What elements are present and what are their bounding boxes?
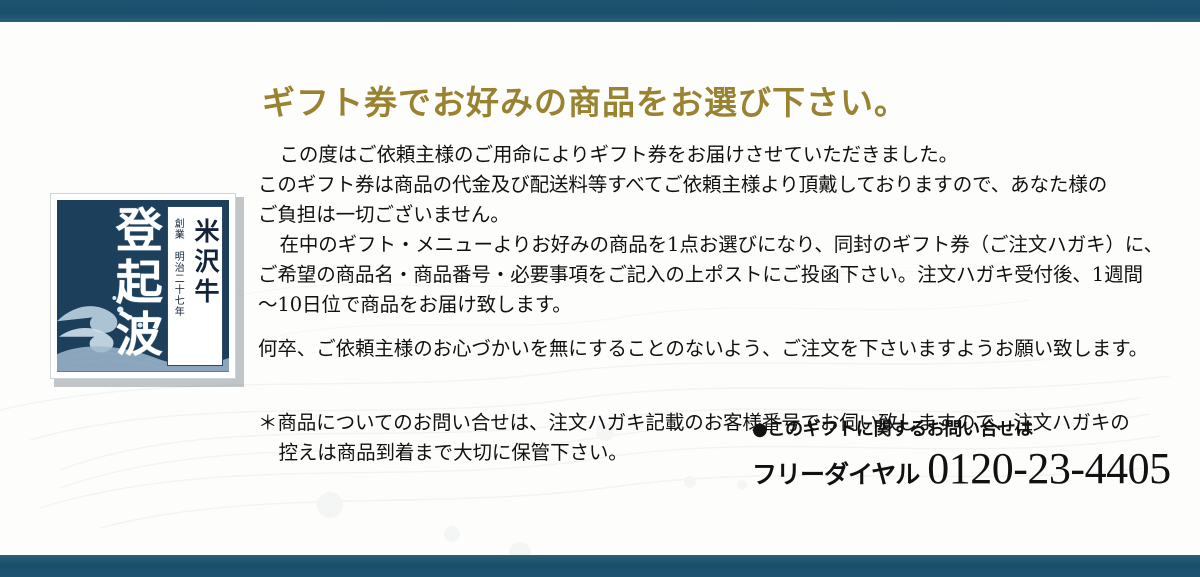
seal-frame: 登 起 波 創 業 明 治 二 十 七 年 (50, 193, 236, 379)
seal-char-1: 登 (108, 206, 170, 258)
est-char-6: 十 (168, 285, 192, 296)
phone-number[interactable]: 0120-23-4405 (927, 446, 1170, 492)
seal-char-2: 起 (108, 258, 170, 310)
seal-char-3: 波 (108, 310, 170, 362)
page-headline: ギフト券でお好みの商品をお選び下さい。 (262, 82, 1170, 124)
est-char-4: 治 (168, 263, 192, 274)
seal-main-characters: 登 起 波 (108, 206, 170, 362)
brand-char-2: 沢 (192, 247, 222, 277)
seal-established-text: 創 業 明 治 二 十 七 年 (168, 207, 192, 365)
contact-heading: ●このギフトに関するお問い合せは (752, 418, 1170, 442)
freedial-label: フリーダイヤル (752, 457, 919, 493)
seal-navy-field: 登 起 波 創 業 明 治 二 十 七 年 (57, 200, 229, 372)
paragraph-3: 何卒、ご依頼主様のお心づかいを無にすることのないよう、ご注文を下さいますようお願… (258, 334, 1170, 364)
paragraph-1: この度はご依頼主様のご用命によりギフト券をお届けさせていただきました。 このギフ… (258, 140, 1170, 230)
est-spacer (168, 241, 192, 252)
est-char-1: 創 (168, 219, 192, 230)
est-char-2: 業 (168, 230, 192, 241)
est-char-5: 二 (168, 274, 192, 285)
est-char-3: 明 (168, 252, 192, 263)
top-border-band (0, 0, 1200, 22)
seal-brand-name: 米 沢 牛 (192, 207, 222, 365)
bottom-border-band (0, 555, 1200, 577)
seal-white-panel: 創 業 明 治 二 十 七 年 米 沢 牛 (167, 206, 223, 366)
brand-char-3: 牛 (192, 277, 222, 307)
paragraph-2: 在中のギフト・メニューよりお好みの商品を1点お選びになり、同封のギフト券（ご注文… (258, 230, 1170, 320)
est-char-7: 七 (168, 296, 192, 307)
gift-certificate-page: 登 起 波 創 業 明 治 二 十 七 年 (0, 0, 1200, 577)
company-seal-logo: 登 起 波 創 業 明 治 二 十 七 年 (50, 193, 244, 387)
brand-char-1: 米 (192, 217, 222, 247)
contact-phone-line: フリーダイヤル 0120-23-4405 (752, 446, 1170, 493)
contact-block: ●このギフトに関するお問い合せは フリーダイヤル 0120-23-4405 (740, 418, 1170, 493)
est-char-8: 年 (168, 307, 192, 318)
